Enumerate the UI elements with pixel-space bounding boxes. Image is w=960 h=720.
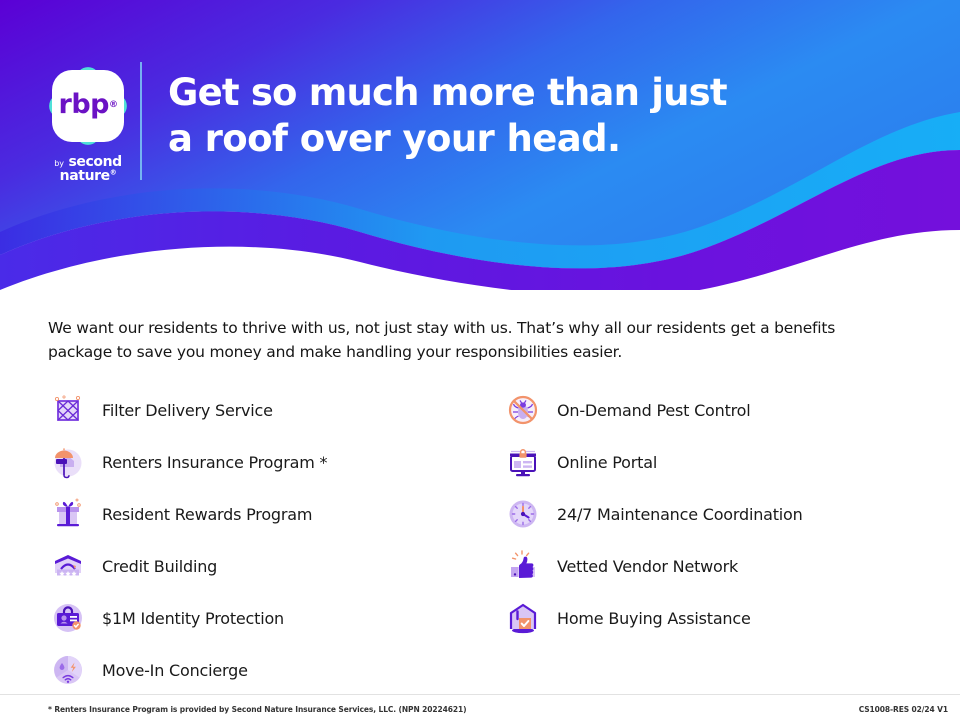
hero-banner: rbp® by second nature® Get so much more … [0,0,960,290]
benefit-label: Move-In Concierge [102,661,248,680]
benefits-grid: Filter Delivery Service Renters Insuran [48,384,918,696]
clock-icon [503,494,543,534]
logo-divider [140,62,142,180]
logo-subtitle: by second nature® [42,154,134,183]
benefit-item-credit-building[interactable]: Credit Building [48,540,503,592]
thumbs-up-icon [503,546,543,586]
benefit-label: Online Portal [557,453,657,472]
legal-footnote: * Renters Insurance Program is provided … [48,705,466,714]
headline-line-1: Get so much more than just [168,70,868,116]
benefit-label: Home Buying Assistance [557,609,751,628]
benefit-label: 24/7 Maintenance Coordination [557,505,803,524]
credit-badge-icon [48,546,88,586]
utilities-circle-icon [48,650,88,690]
headline-line-2: a roof over your head. [168,116,868,162]
logo-by-text: by [54,159,64,168]
benefits-column-right: On-Demand Pest Control [503,384,918,696]
air-filter-icon [48,390,88,430]
benefit-item-home-buying-assistance[interactable]: Home Buying Assistance [503,592,918,644]
benefit-label: $1M Identity Protection [102,609,284,628]
umbrella-house-icon [48,442,88,482]
logo-wordmark: rbp® [44,62,132,150]
benefit-item-maintenance-coordination[interactable]: 24/7 Maintenance Coordination [503,488,918,540]
benefit-item-online-portal[interactable]: Online Portal [503,436,918,488]
gift-box-icon [48,494,88,534]
benefit-label: Filter Delivery Service [102,401,273,420]
benefit-label: Vetted Vendor Network [557,557,738,576]
hero-content: rbp® by second nature® Get so much more … [0,0,960,290]
benefit-label: On-Demand Pest Control [557,401,751,420]
benefit-item-vetted-vendor-network[interactable]: Vetted Vendor Network [503,540,918,592]
benefit-label: Resident Rewards Program [102,505,312,524]
logo-wordmark-text: rbp [59,89,109,120]
logo-trademark-symbol: ® [109,100,118,110]
benefit-item-pest-control[interactable]: On-Demand Pest Control [503,384,918,436]
benefits-column-left: Filter Delivery Service Renters Insuran [48,384,503,696]
rbp-logo-badge: rbp® [44,62,132,150]
logo-nature-text: nature® [42,169,134,183]
brand-logo: rbp® by second nature® [42,62,134,180]
benefit-item-move-in-concierge[interactable]: Move-In Concierge [48,644,503,696]
page-root: rbp® by second nature® Get so much more … [0,0,960,720]
benefit-item-renters-insurance-program[interactable]: Renters Insurance Program * [48,436,503,488]
benefit-label: Renters Insurance Program * [102,453,327,472]
logo-nature-word: nature [60,168,110,184]
footer-divider [0,694,960,695]
id-card-lock-icon [48,598,88,638]
benefit-item-filter-delivery-service[interactable]: Filter Delivery Service [48,384,503,436]
benefit-item-identity-protection[interactable]: $1M Identity Protection [48,592,503,644]
logo-nature-trademark: ® [110,168,117,176]
benefit-item-resident-rewards-program[interactable]: Resident Rewards Program [48,488,503,540]
document-code: CS1008-RES 02/24 V1 [859,705,948,714]
no-pest-icon [503,390,543,430]
logo-second-text: second [68,155,121,169]
house-check-icon [503,598,543,638]
page-title: Get so much more than just a roof over y… [168,70,868,162]
intro-paragraph: We want our residents to thrive with us,… [48,316,903,364]
monitor-lock-icon [503,442,543,482]
benefit-label: Credit Building [102,557,217,576]
